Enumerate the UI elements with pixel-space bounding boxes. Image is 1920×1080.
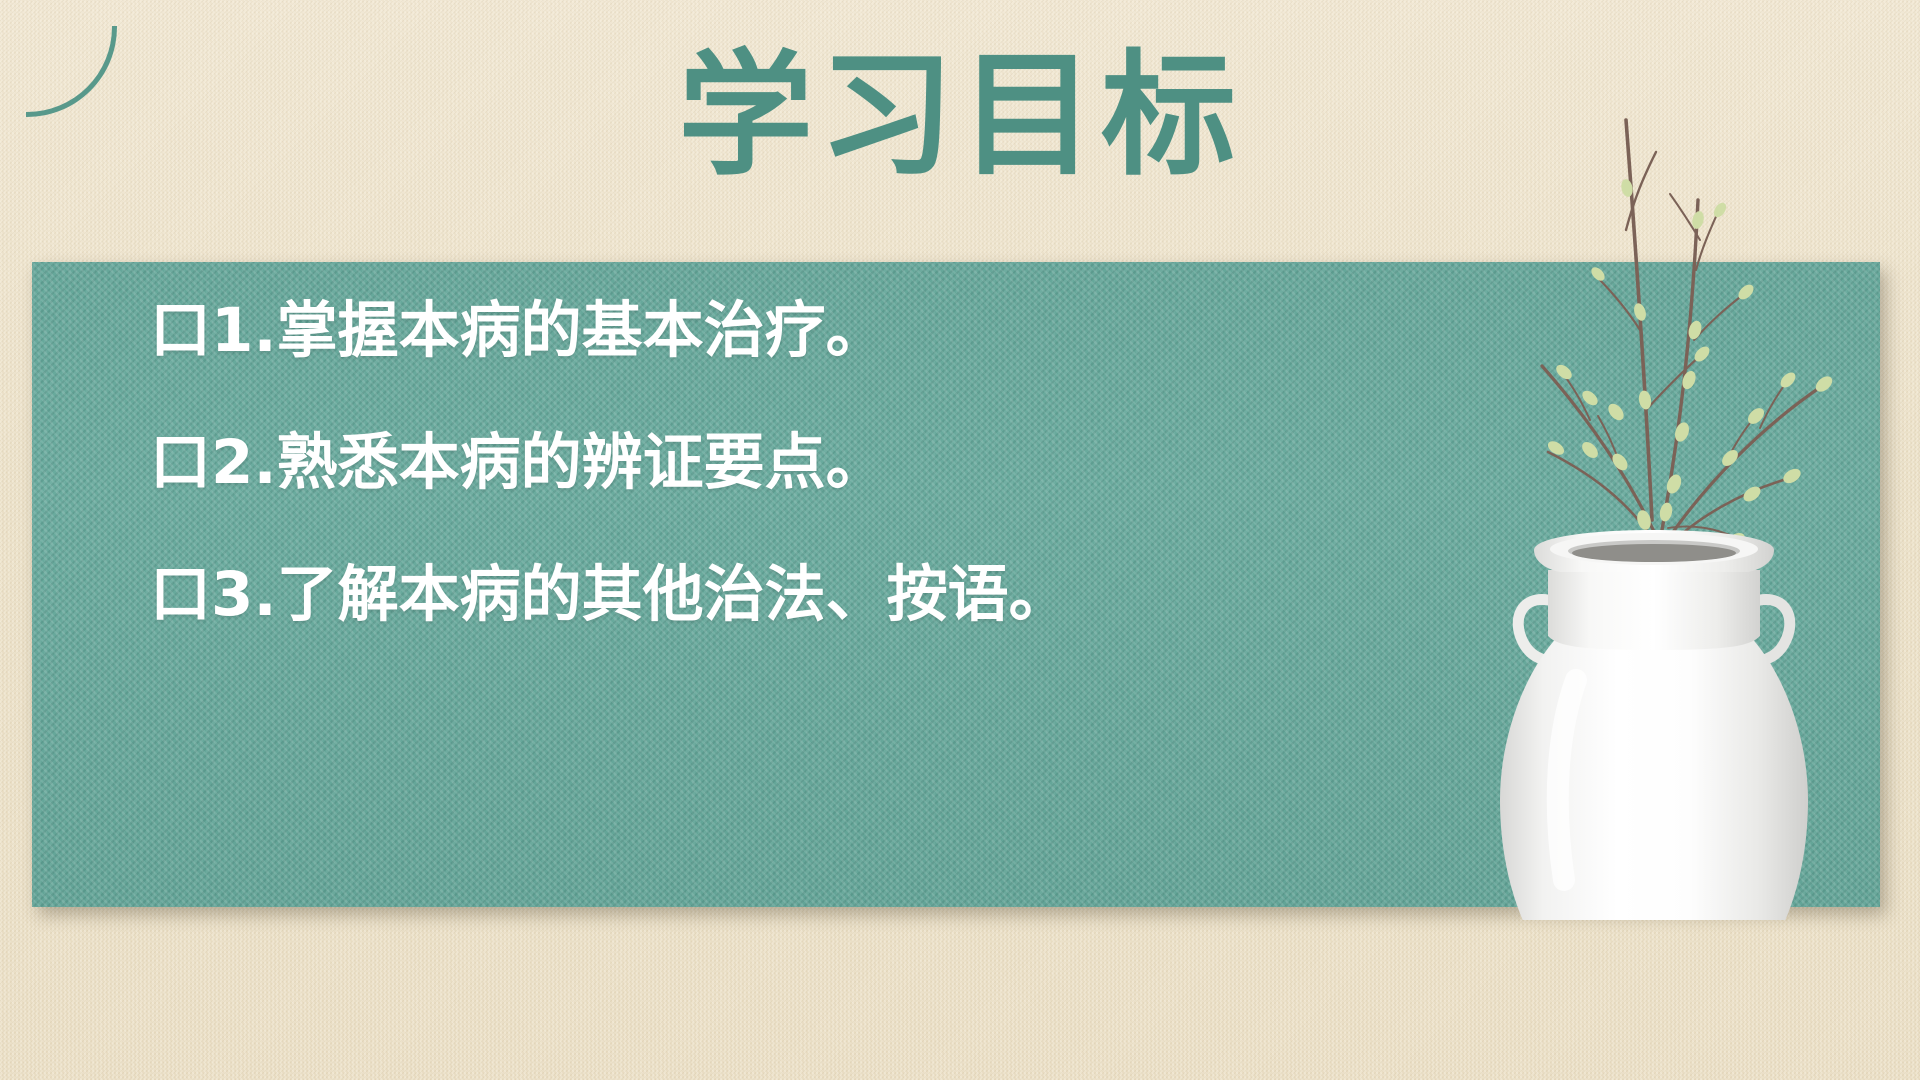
list-item-label: 1.掌握本病的基本治疗。 (211, 300, 887, 361)
list-item: 口 1.掌握本病的基本治疗。 (150, 300, 1450, 361)
checkbox-marker-icon: 口 (150, 300, 211, 361)
list-item-label: 2.熟悉本病的辨证要点。 (211, 432, 887, 493)
list-item: 口 2.熟悉本病的辨证要点。 (150, 432, 1450, 493)
vase-decoration (1430, 80, 1900, 920)
branches-icon (1542, 120, 1822, 554)
objectives-list: 口 1.掌握本病的基本治疗。 口 2.熟悉本病的辨证要点。 口 3.了解本病的其… (150, 300, 1450, 625)
slide-canvas: 学习目标 口 1.掌握本病的基本治疗。 口 2.熟悉本病的辨证要点。 口 3.了… (0, 0, 1920, 1080)
vase-icon (1500, 530, 1808, 920)
list-item: 口 3.了解本病的其他治法、按语。 (150, 564, 1450, 625)
list-item-label: 3.了解本病的其他治法、按语。 (211, 564, 1070, 625)
checkbox-marker-icon: 口 (150, 564, 211, 625)
checkbox-marker-icon: 口 (150, 432, 211, 493)
